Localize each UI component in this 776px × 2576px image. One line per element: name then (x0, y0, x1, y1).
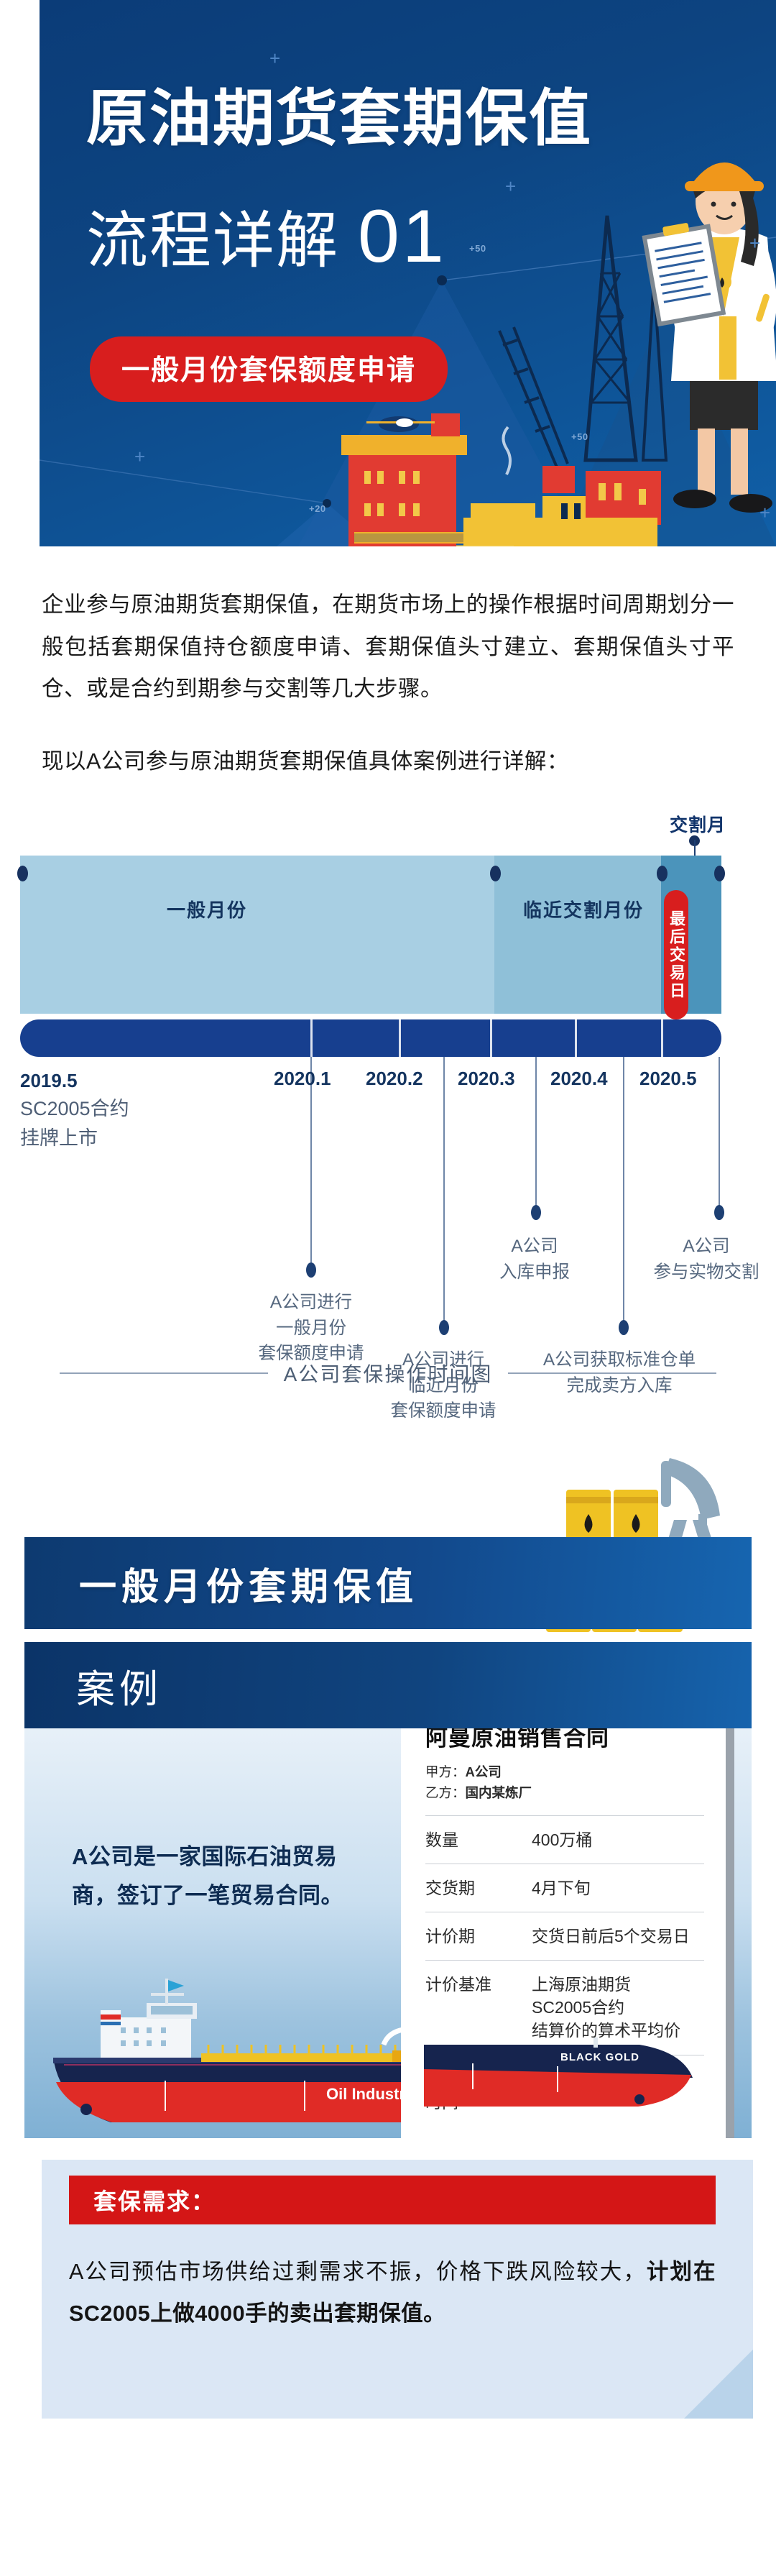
hedging-demand-section: 套保需求： A公司预估市场供给过剩需求不振，价格下跌风险较大，计划在SC2005… (0, 2160, 776, 2433)
contract-row: 交货期 4月下旬 (425, 1864, 704, 1912)
intro-paragraph-2: 现以A公司参与原油期货套期保值具体案例进行详解： (42, 741, 734, 783)
timeline-event: A公司进行一般月份套保额度申请 (236, 1290, 387, 1367)
origin-desc-1: SC2005合约 (20, 1096, 129, 1122)
timeline-date: 2020.5 (639, 1068, 697, 1090)
timeline-caption: A公司套保操作时间图 (0, 1359, 776, 1388)
caption-text: A公司套保操作时间图 (284, 1359, 493, 1388)
contract-row-value: 400万桶 (532, 1828, 592, 1851)
timeline-bar (20, 1019, 721, 1057)
tick-label: +50 (469, 243, 486, 254)
event-dot-icon (531, 1205, 541, 1220)
timeline-bar-separator (310, 1019, 313, 1057)
origin-year: 2019.5 (20, 1070, 129, 1092)
hero-title-line2-row: 流程详解 01 (86, 198, 447, 276)
intro-paragraph-1: 企业参与原油期货套期保值，在期货市场上的操作根据时间周期划分一般包括套期保值持仓… (42, 584, 734, 710)
event-dot-icon (439, 1320, 449, 1335)
timeline-date: 2020.2 (366, 1068, 423, 1090)
tick-label: +20 (309, 503, 326, 514)
band-node-dot-icon (714, 866, 725, 881)
party-b-value: 国内某炼厂 (466, 1785, 532, 1800)
delivery-month-label: 交割月 (670, 811, 726, 837)
timeline-origin: 2019.5 SC2005合约 挂牌上市 (20, 1070, 129, 1151)
last-trading-day-marker: 最后交易日 (664, 890, 688, 1019)
origin-desc-2: 挂牌上市 (20, 1126, 129, 1151)
timeline-event: A公司入库申报 (474, 1234, 595, 1285)
contract-row-key: 交货期 (425, 1876, 532, 1899)
timeline-guide-line (443, 1057, 445, 1329)
contract-row-key: 数量 (425, 1828, 532, 1851)
caption-rule-right (508, 1372, 716, 1374)
party-a-label: 甲方： (425, 1764, 466, 1779)
demand-badge: 套保需求： (69, 2176, 716, 2224)
timeline-bar-separator (661, 1019, 663, 1057)
timeline-guide-line (623, 1057, 624, 1329)
timeline-bar-separator (490, 1019, 492, 1057)
intro-copy: 企业参与原油期货套期保值，在期货市场上的操作根据时间周期划分一般包括套期保值持仓… (42, 584, 734, 782)
case-description: A公司是一家国际石油贸易商，签订了一笔贸易合同。 (72, 1838, 345, 1915)
case-section: 案例 (0, 1642, 776, 2138)
timeline-guide-line (535, 1057, 537, 1214)
timeline-event: A公司参与实物交割 (639, 1234, 773, 1285)
event-dot-icon (714, 1205, 724, 1220)
caption-rule-left (60, 1372, 268, 1374)
plus-decor-icon: + (749, 234, 760, 252)
demand-text-normal: A公司预估市场供给过剩需求不振，价格下跌风险较大， (69, 2260, 647, 2284)
party-a-value: A公司 (466, 1764, 502, 1779)
hero-title-line1: 原油期货套期保值 (86, 86, 592, 151)
ship-bow-name-label: BLACK GOLD (560, 2051, 639, 2063)
plus-decor-icon: + (134, 447, 145, 466)
hero-badge: 一般月份套保额度申请 (90, 336, 448, 402)
event-dot-icon (306, 1262, 316, 1278)
section-banner: 一般月份套期保值 (24, 1537, 752, 1629)
section-banner-title: 一般月份套期保值 (79, 1557, 418, 1610)
demand-text: A公司预估市场供给过剩需求不振，价格下跌风险较大，计划在SC2005上做4000… (69, 2252, 716, 2335)
contract-row: 计价期 交货日前后5个交易日 (425, 1912, 704, 1960)
timeline-date: 2020.1 (274, 1068, 331, 1090)
contract-row-key: 计价期 (425, 1925, 532, 1948)
case-header: 案例 (24, 1642, 752, 1728)
plus-decor-icon: + (759, 503, 770, 522)
timeline-date: 2020.4 (550, 1068, 608, 1090)
case-body: Oil Industry A公司是一家国际石油贸易商，签订了一笔贸易合同。 阿曼… (24, 1728, 752, 2138)
hero-step-number: 01 (358, 198, 447, 276)
contract-parties: 甲方：A公司 乙方：国内某炼厂 (425, 1762, 704, 1803)
contract-row-value: 4月下旬 (532, 1876, 591, 1899)
hero-banner: + + + + + + +50 +50 +20 原油期货套期保值 流程详解 01… (40, 0, 776, 546)
band-label-normal: 一般月份 (167, 896, 247, 922)
contract-title: 阿曼原油销售合同 (425, 1728, 704, 1752)
plus-decor-icon: + (505, 177, 516, 196)
contract-row-key: 计价基准 (425, 1973, 532, 2043)
contract-row-value: 交货日前后5个交易日 (532, 1925, 690, 1948)
party-b-label: 乙方： (425, 1785, 466, 1800)
hedging-timeline: 交割月 一般月份 临近交割月份 最后交易日 2019.5 SC2005合约 挂牌… (0, 811, 776, 1415)
contract-row-value: 上海原油期货SC2005合约结算价的算术平均价 (532, 1973, 680, 2043)
plus-decor-icon: + (269, 49, 280, 68)
hero-title-line2: 流程详解 (86, 208, 339, 273)
tick-label: +50 (571, 431, 588, 442)
timeline-bar-separator (399, 1019, 401, 1057)
tanker-bow-illustration: BLACK GOLD (424, 2038, 726, 2124)
timeline-date: 2020.3 (458, 1068, 515, 1090)
timeline-guide-line (719, 1057, 720, 1214)
timeline-bar-separator (575, 1019, 577, 1057)
band-label-near-delivery: 临近交割月份 (523, 896, 644, 922)
contract-row: 数量 400万桶 (425, 1816, 704, 1864)
case-header-title: 案例 (76, 1657, 162, 1714)
event-dot-icon (619, 1320, 629, 1335)
timeline-band-normal (20, 856, 494, 1014)
corner-fold-decor (684, 2350, 753, 2419)
section-banner-wrap: 一般月份套期保值 (0, 1445, 776, 1639)
